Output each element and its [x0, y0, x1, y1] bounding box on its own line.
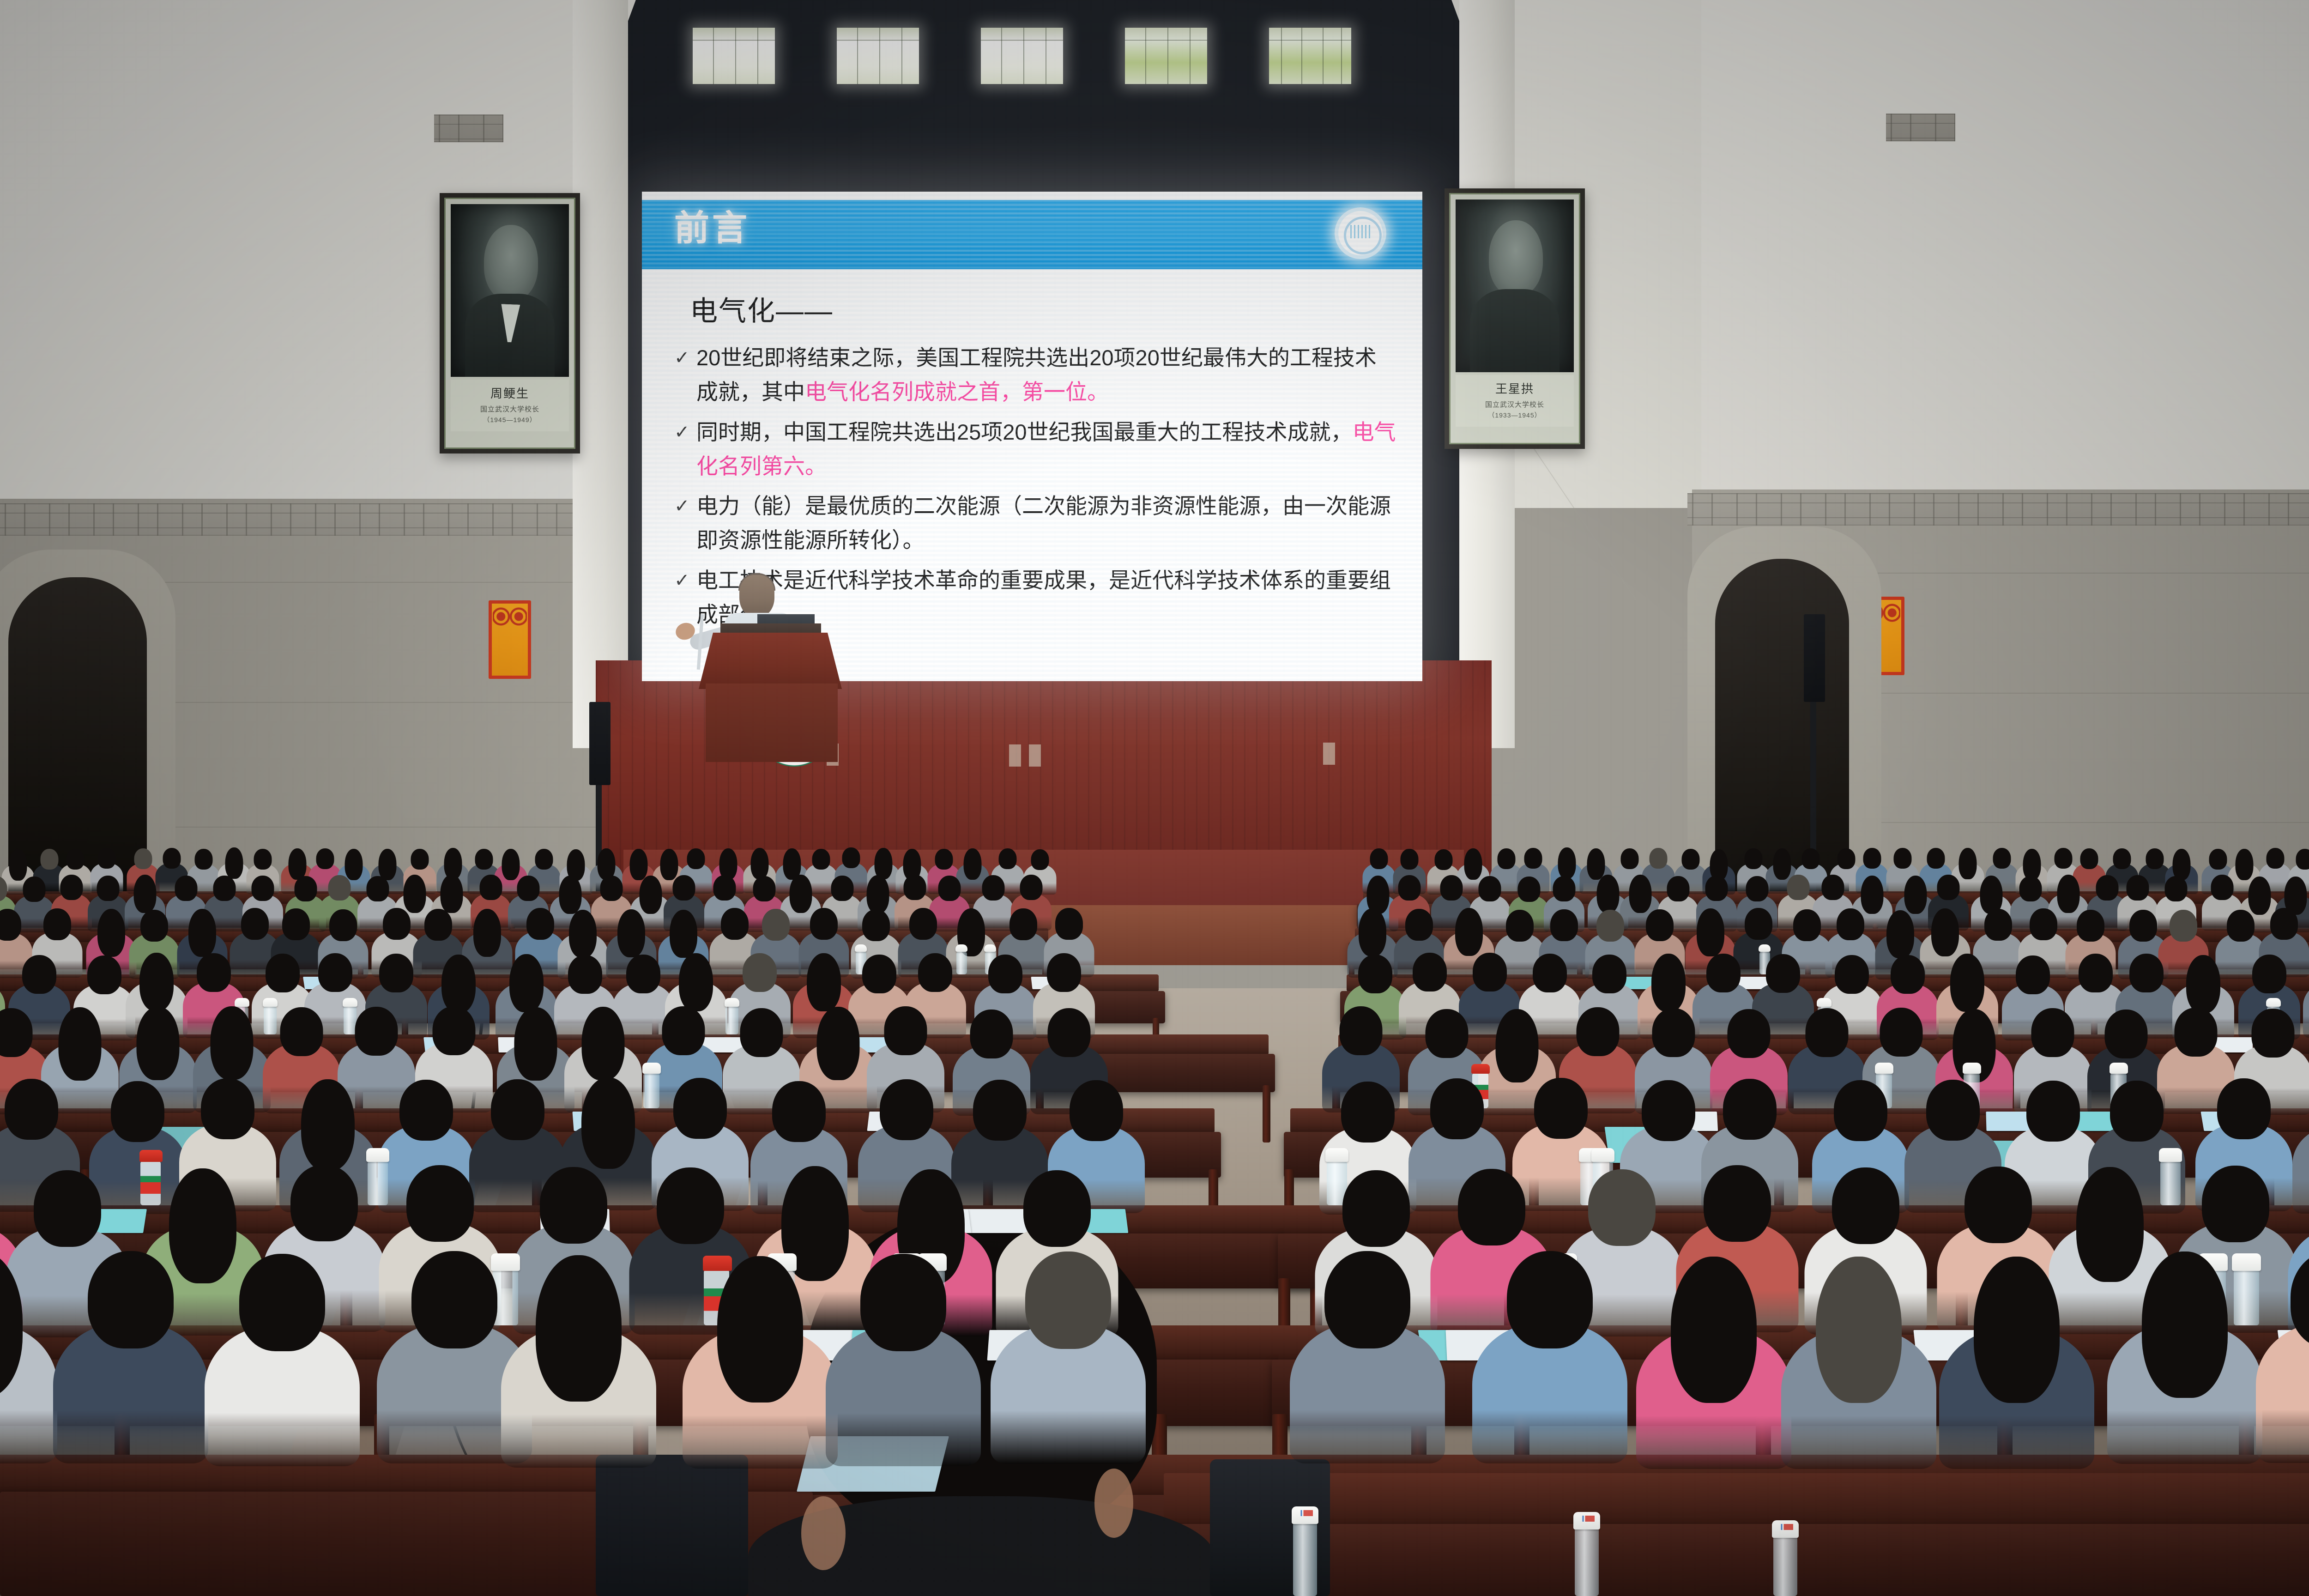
audience-member-head	[1518, 877, 1541, 902]
audience-member-head	[1324, 1251, 1410, 1348]
audience-member-head	[988, 955, 1022, 993]
audience-member-head	[1341, 1082, 1395, 1143]
audience-member-head	[441, 955, 476, 1013]
bottle-cap	[642, 1063, 661, 1074]
audience-member-head	[514, 1007, 557, 1081]
audience-member-head	[66, 849, 84, 870]
audience-member-head	[1398, 875, 1421, 901]
audience-member-head	[1479, 876, 1501, 901]
audience-member-head	[2252, 955, 2286, 993]
audience-member-head	[1980, 876, 2003, 914]
audience-member-head	[2270, 908, 2298, 940]
audience-member-head	[2252, 1009, 2295, 1058]
audience-member-head	[1744, 848, 1762, 869]
audience-member-head	[597, 848, 615, 880]
pa-speaker	[1804, 614, 1825, 702]
bottle-cap-logo	[1581, 1516, 1595, 1522]
audience-member-head	[687, 848, 705, 869]
greek-key-frieze-right	[1687, 493, 2309, 526]
audience-member-head	[679, 953, 713, 1011]
portrait-years: （1945—1949）	[451, 415, 569, 424]
audience-member-head	[239, 1254, 325, 1351]
bottle-cap	[2266, 998, 2281, 1007]
audience-member-torso	[2256, 1323, 2309, 1463]
audience-member-head	[1434, 849, 1452, 870]
audience-member-head	[2142, 1251, 2228, 1398]
bottle-cap	[1963, 1063, 1981, 1074]
audience-member-head	[640, 876, 662, 914]
audience-member-head	[909, 908, 937, 940]
audience-member-head	[2054, 848, 2072, 869]
ceiling-vault-right	[1701, 0, 2309, 531]
slide-bullet: ✓同时期，中国工程院共选出25项20世纪我国最重大的工程技术成就，电气化名列第六…	[671, 415, 1396, 484]
clerestory-window	[1125, 28, 1207, 84]
audience-member-head	[1642, 1080, 1695, 1141]
audience-member-head	[111, 1081, 164, 1142]
clerestory-window	[837, 28, 919, 84]
audience-member-head	[2172, 849, 2190, 880]
audience-member-head	[1993, 848, 2011, 869]
audience-member-head	[241, 908, 269, 940]
audience-member	[501, 1255, 656, 1493]
audience-member-head	[383, 908, 411, 940]
bullet-check-icon: ✓	[674, 418, 690, 447]
audience-member-head	[569, 910, 597, 958]
water-bottle[interactable]	[1293, 1522, 1317, 1596]
audience-member-head	[1893, 848, 1911, 869]
audience-member-head	[2186, 955, 2220, 1013]
audience-member	[2256, 1251, 2309, 1488]
audience-member-head	[175, 876, 198, 901]
bottle-cap-logo	[1780, 1524, 1794, 1530]
audience-member-head	[1497, 848, 1515, 869]
audience-member-head	[1025, 1251, 1111, 1349]
audience-member-head	[194, 849, 212, 870]
audience-member-head	[862, 909, 890, 941]
audience-member-head	[87, 955, 121, 994]
audience-member-head	[1880, 1008, 1923, 1057]
audience-member	[53, 1251, 208, 1489]
bottle-cap	[1875, 1063, 1893, 1074]
audience-member-head	[1816, 1257, 1902, 1403]
audience-member-head	[2110, 1081, 2164, 1142]
audience-member-head	[2296, 849, 2309, 870]
audience-member-head	[1426, 1009, 1469, 1058]
audience-member-head	[970, 1010, 1013, 1058]
audience-member	[991, 1251, 1146, 1489]
audience-member-head	[197, 953, 231, 992]
audience-member-head	[2146, 848, 2164, 869]
bullet-check-icon: ✓	[674, 344, 690, 373]
audience-member-head	[1705, 876, 1728, 901]
foreground-attendee-hand	[801, 1496, 846, 1570]
stage-vent	[1323, 743, 1335, 765]
audience-member-head	[617, 909, 645, 957]
portrait-face	[484, 225, 538, 301]
audience-member-head	[1723, 1079, 1777, 1140]
audience-member	[1939, 1257, 2094, 1494]
audience-member-head	[201, 1078, 254, 1139]
audience-member-head	[1506, 910, 1534, 942]
slide-bullet: ✓20世纪即将结束之际，美国工程院共选出20项20世纪最伟大的工程技术成就，其中…	[671, 341, 1396, 410]
portrait-role: 国立武汉大学校长	[451, 404, 569, 414]
bottle-cap	[1471, 1064, 1490, 1074]
audience-member-head	[355, 1007, 398, 1056]
bullet-text: 同时期，中国工程院共选出25项20世纪我国最重大的工程技术成就，	[696, 420, 1353, 444]
audience-member-head	[43, 908, 71, 940]
audience-member-head	[1047, 953, 1081, 992]
audience-member	[683, 1256, 838, 1494]
audience-member-head	[137, 1007, 180, 1080]
audience-member-head	[1697, 908, 1724, 956]
audience-member-head	[884, 1006, 927, 1055]
slide-title: 前言	[674, 211, 750, 246]
audience-member-head	[97, 848, 115, 869]
audience-member-head	[2030, 908, 2057, 940]
audience-member-head	[318, 953, 352, 992]
audience-member-head	[139, 953, 174, 1011]
audience-member-head	[411, 1251, 497, 1348]
water-bottle[interactable]	[1575, 1528, 1599, 1596]
audience-member-head	[1370, 848, 1388, 869]
audience-member-head	[23, 877, 46, 902]
proscenium-pillar-left	[573, 0, 628, 748]
audience-member	[205, 1254, 360, 1492]
greek-key-frieze-pillar-left	[434, 115, 503, 142]
bottle-cap	[984, 944, 996, 952]
audience-member-head	[59, 1007, 102, 1081]
audience-member-head	[2211, 875, 2234, 900]
audience-member-head	[1931, 908, 1959, 956]
audience-member-head	[1671, 1257, 1757, 1403]
audience-member-head	[1704, 1165, 1771, 1242]
audience-member-head	[1745, 908, 1772, 940]
audience-member	[1781, 1257, 1936, 1494]
audience-member-head	[842, 847, 860, 868]
lecture-hall-photo: 周鲠生 国立武汉大学校长 （1945—1949） 王星拱 国立武汉大学校长 （1…	[0, 0, 2309, 1596]
audience-member-head	[1891, 955, 1925, 994]
audience-member-head	[2096, 875, 2119, 901]
speaker-head	[739, 575, 774, 617]
audience-member-head	[1793, 909, 1821, 941]
bottle-cap	[366, 1148, 389, 1162]
bullet-text: 电力（能）是最优质的二次能源（二次能源为非资源性能源，由一次能源即资源性能源所转…	[696, 494, 1391, 552]
portrait-torso	[1470, 289, 1560, 372]
audience-member-head	[211, 1006, 254, 1080]
bottle-cap	[2159, 1148, 2182, 1162]
audience-member-head	[1524, 848, 1542, 869]
audience-member-head	[536, 1255, 622, 1402]
audience-member-head	[860, 1254, 946, 1351]
audience-member-head	[441, 875, 463, 913]
audience-member-head	[22, 955, 56, 994]
audience-member-head	[88, 1251, 174, 1348]
audience-member-head	[1031, 849, 1049, 870]
audience-member-head	[480, 875, 502, 900]
portrait-face	[1489, 220, 1543, 296]
clerestory-window	[981, 28, 1063, 84]
audience-member-head	[935, 849, 953, 870]
audience-member-head	[740, 1008, 783, 1057]
audience-member-head	[750, 848, 768, 879]
audience-member-head	[600, 876, 623, 901]
audience-member-head	[188, 909, 216, 957]
audience-member-head	[1340, 1006, 1383, 1055]
audience-member-head	[280, 1007, 323, 1056]
audience-member-head	[1834, 1080, 1887, 1141]
audience-member-head	[134, 848, 152, 869]
bottle-cap	[139, 1150, 163, 1162]
bottle-cap	[263, 998, 278, 1007]
audience-member-head	[473, 909, 501, 957]
audience-member-head	[535, 849, 553, 870]
bench-leg	[1263, 1085, 1270, 1143]
audience-member-head	[2129, 910, 2157, 942]
audience-member-head	[1020, 875, 1043, 900]
audience-member-head	[2217, 1078, 2271, 1139]
audience-member-head	[2079, 954, 2113, 992]
audience-member-head	[1455, 908, 1483, 956]
audience-member-head	[1597, 875, 1620, 913]
audience-member	[826, 1254, 981, 1492]
audience-member-head	[266, 954, 300, 992]
audience-member-head	[998, 848, 1016, 869]
audience-member-head	[1405, 909, 1433, 941]
audience-member-head	[717, 1256, 803, 1403]
audience-member-head	[1646, 909, 1674, 941]
audience-member-head	[762, 909, 790, 941]
bottle-cap	[1591, 1148, 1614, 1162]
audience-member-head	[404, 875, 426, 913]
audience-member-head	[867, 875, 889, 913]
audience-member-head	[2016, 955, 2050, 994]
portrait-frame-right: 王星拱 国立武汉大学校长 （1933—1945）	[1445, 188, 1585, 449]
audience-member	[2107, 1251, 2262, 1489]
audience-member-head	[316, 848, 334, 869]
audience-member-head	[517, 876, 540, 901]
clerestory-window	[693, 28, 775, 84]
bullet-check-icon: ✓	[674, 566, 690, 595]
audience-member-head	[810, 908, 838, 940]
audience-member-head	[5, 1079, 58, 1140]
portrait-frame-left: 周鲠生 国立武汉大学校长 （1945—1949）	[440, 193, 580, 453]
audience-member-head	[1588, 1169, 1656, 1246]
audience-member-head	[1534, 1078, 1588, 1139]
audience-member-head	[973, 1080, 1027, 1141]
audience-member-head	[1984, 909, 2012, 941]
audience-member-head	[1533, 954, 1567, 992]
audience-member-head	[2113, 848, 2131, 869]
audience-member-head	[982, 875, 1005, 901]
audience-member-head	[1927, 848, 1945, 869]
audience-member-head	[1550, 909, 1578, 941]
audience-member-head	[399, 1080, 453, 1141]
slide-bullet: ✓电力（能）是最优质的二次能源（二次能源为非资源性能源，由一次能源即资源性能源所…	[671, 489, 1396, 558]
podium-base	[706, 683, 838, 762]
audience-member-head	[1649, 848, 1667, 869]
audience-member-head	[772, 1081, 826, 1142]
audience-member-head	[1787, 875, 1810, 900]
bottle-cap	[855, 944, 867, 952]
audience-member-head	[807, 953, 841, 1011]
audience-member-head	[475, 849, 493, 870]
audience-member-head	[1458, 1169, 1525, 1245]
bottle-cap	[1325, 1148, 1348, 1162]
audience-member-head	[540, 1167, 607, 1244]
audience-member-head	[1496, 1009, 1539, 1082]
audience-member-head	[1766, 954, 1800, 993]
audience-member-head	[295, 876, 317, 901]
audience-member-head	[657, 1167, 724, 1244]
audience-member-head	[1055, 908, 1083, 940]
audience-member-head	[1651, 954, 1686, 1012]
audience-member-head	[424, 909, 452, 941]
audience-member-head	[2057, 875, 2080, 913]
audience-member-head	[1342, 1170, 1410, 1247]
audience-member-head	[301, 1079, 355, 1171]
audience-member-head	[1806, 1008, 1849, 1057]
audience-member-head	[673, 875, 695, 901]
bottle-cap	[343, 998, 357, 1007]
slide-heading: 电气化——	[690, 289, 1396, 329]
pa-speaker	[589, 702, 610, 785]
audience-member-head	[2227, 910, 2255, 942]
bullet-highlight-text: 电气化名列成就之首，第一位。	[805, 380, 1109, 404]
audience-member-head	[918, 953, 952, 992]
audience-member-head	[1507, 1251, 1593, 1348]
water-bottle[interactable]	[1773, 1536, 1797, 1596]
audience-member-head	[225, 847, 243, 879]
audience-member-head	[1667, 876, 1690, 901]
portrait-photo	[451, 204, 569, 377]
audience-member-head	[790, 875, 812, 913]
audience-member-head	[290, 1165, 358, 1241]
clerestory-window	[1269, 28, 1351, 84]
audience-member-head	[880, 1079, 933, 1140]
audience-member-head	[34, 1170, 101, 1247]
audience-member-head	[0, 1008, 33, 1057]
audience-member-head	[254, 849, 272, 870]
audience-member-head	[2170, 910, 2197, 942]
audience-member-head	[568, 955, 602, 994]
audience-member-head	[329, 909, 357, 941]
audience-member-head	[1964, 1167, 2032, 1243]
greek-key-frieze-pillar-right	[1886, 114, 1955, 141]
audience-member-head	[491, 1079, 544, 1140]
portrait-role: 国立武汉大学校长	[1456, 399, 1574, 409]
audience-member-head	[938, 876, 961, 901]
audience-member-head	[1400, 849, 1418, 870]
audience-member-head	[1937, 875, 1960, 900]
audience-member-head	[812, 849, 830, 870]
audience-member-head	[1577, 1007, 1620, 1056]
audience-member-head	[2175, 1008, 2218, 1057]
portrait-nameplate: 周鲠生 国立武汉大学校长 （1945—1949）	[451, 380, 569, 431]
audience-member-head	[1837, 848, 1855, 869]
audience-member-head	[367, 876, 389, 901]
audience-member-head	[2129, 954, 2164, 992]
bottle-cap-logo	[1300, 1510, 1313, 1516]
audience-member-head	[673, 1078, 727, 1139]
audience-member-head	[1359, 908, 1386, 956]
audience-member-head	[670, 910, 697, 958]
audience-member-head	[743, 953, 777, 992]
slide-header-bar: 前言	[642, 200, 1422, 269]
bottle-cap	[725, 998, 739, 1007]
audience-member-head	[1440, 875, 1463, 901]
audience-member-head	[411, 849, 429, 870]
audience-member-head	[2105, 1010, 2148, 1058]
audience-member-head	[97, 909, 125, 957]
audience-member-head	[1801, 848, 1819, 869]
audience-member-head	[1728, 1009, 1771, 1058]
stage-vent	[1029, 744, 1041, 767]
audience-member-head	[721, 908, 749, 940]
university-seal-icon	[1335, 207, 1386, 259]
audience-member-head	[1048, 1008, 1091, 1057]
audience-member-head	[1746, 876, 1769, 901]
bottle-cap	[235, 998, 249, 1007]
audience-member-head	[874, 848, 892, 879]
audience-member-head	[904, 875, 926, 900]
audience-member-head	[753, 876, 776, 901]
greek-key-frieze-left	[0, 503, 660, 536]
audience-member-head	[1629, 875, 1652, 913]
audience-member	[0, 1251, 57, 1489]
audience-member-head	[1596, 910, 1624, 942]
bullet-check-icon: ✓	[674, 492, 690, 521]
audience-member-head	[1886, 910, 1914, 958]
audience-member-head	[2026, 1081, 2080, 1142]
audience-member-head	[378, 849, 396, 880]
audience-member-head	[140, 910, 168, 942]
audience-member-head	[1835, 955, 1869, 994]
audience-member-head	[582, 1007, 625, 1080]
audience-member-head	[2019, 876, 2042, 901]
audience-member-head	[1009, 908, 1037, 940]
audience-member-head	[134, 875, 157, 913]
audience-member-head	[1592, 955, 1626, 993]
audience-member-head	[379, 954, 413, 992]
audience-member-head	[2209, 849, 2227, 870]
audience-member-head	[1023, 1170, 1091, 1247]
audience-member-head	[1832, 1167, 1899, 1244]
audience-member-head	[1652, 1008, 1695, 1057]
audience-member-head	[252, 876, 274, 901]
audience-member-head	[1974, 1257, 2060, 1403]
bottle-cap	[2110, 1063, 2128, 1074]
audience-member-head	[1558, 847, 1576, 879]
bottle-cap	[955, 944, 967, 952]
audience-member-head	[97, 876, 120, 901]
audience-member-head	[2080, 848, 2098, 869]
audience-member-head	[282, 908, 310, 940]
audience-member-head	[626, 955, 660, 993]
audience-member-head	[328, 875, 351, 901]
audience-member-head	[862, 955, 896, 993]
bottle-cap	[1817, 998, 1831, 1007]
audience-member-head	[1706, 954, 1741, 992]
audience-member	[1472, 1251, 1627, 1489]
audience-member-head	[526, 908, 554, 940]
audience-member-head	[1473, 953, 1507, 991]
audience-member-head	[213, 876, 236, 901]
portrait-photo	[1456, 199, 1574, 372]
audience-member-head	[60, 875, 83, 900]
audience-member-head	[0, 909, 21, 941]
audience-member-head	[1070, 1080, 1123, 1141]
stage-vent	[1009, 744, 1021, 767]
